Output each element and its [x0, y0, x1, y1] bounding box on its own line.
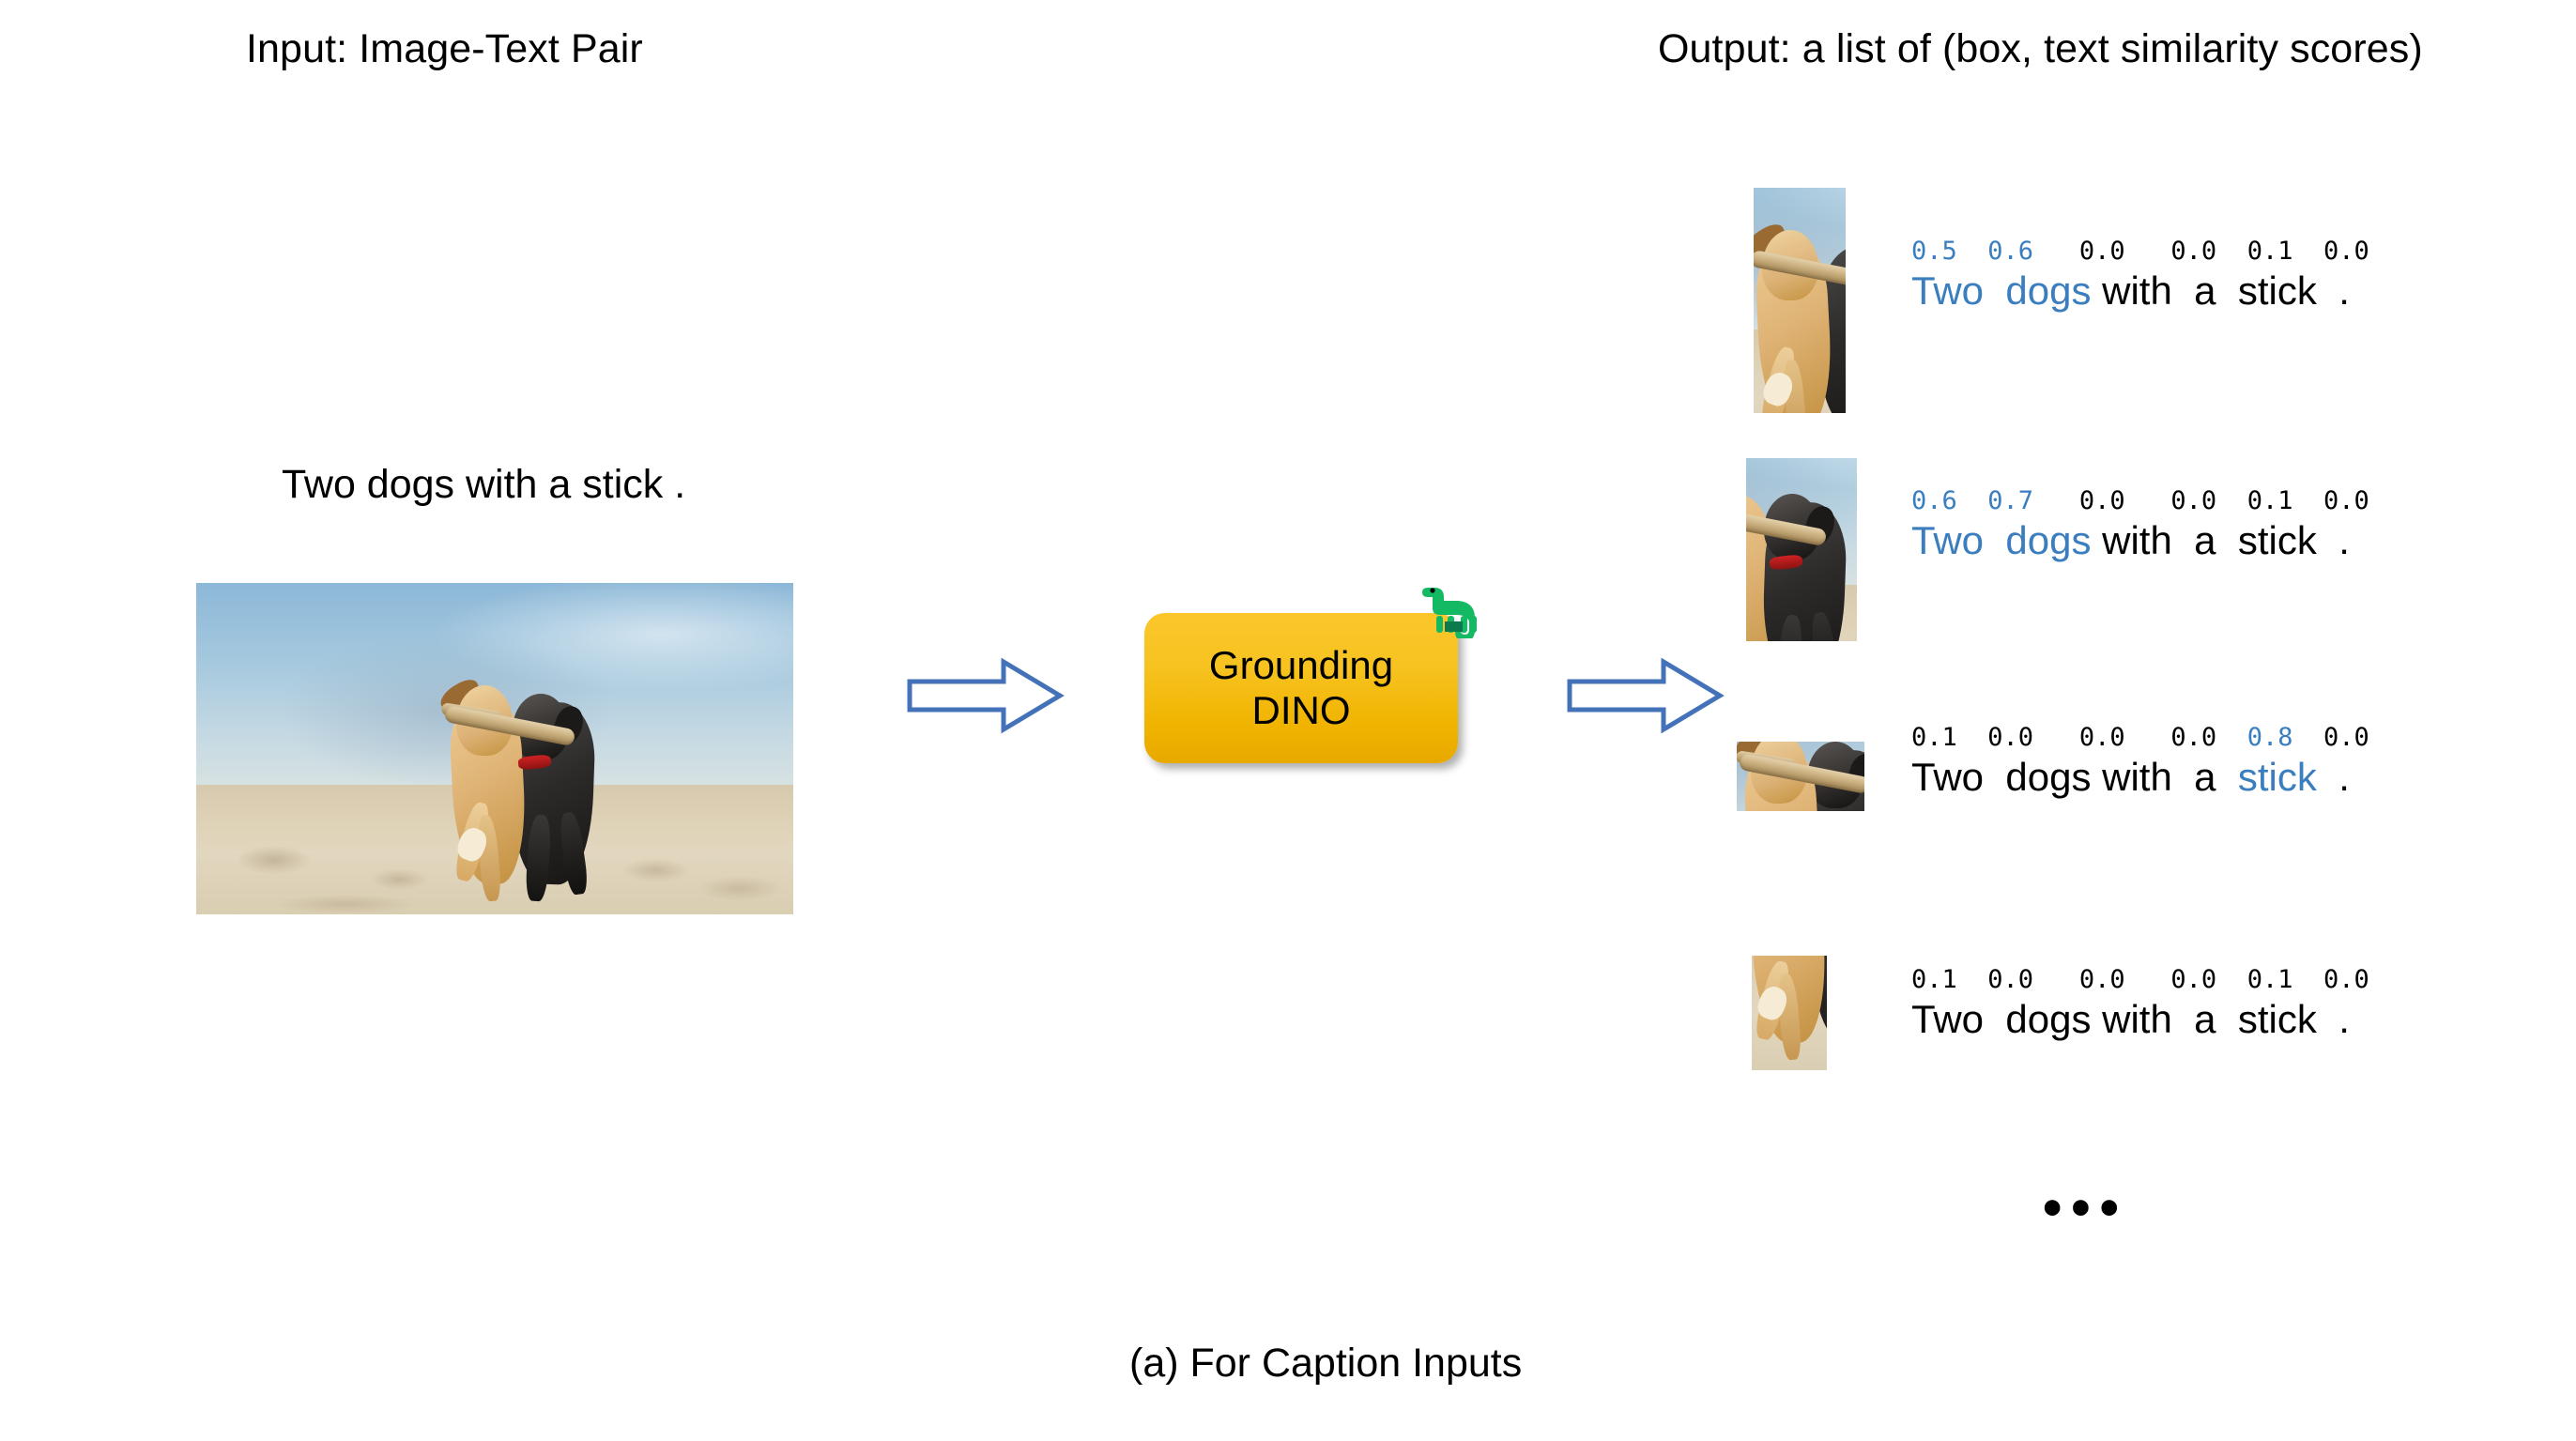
- dinosaur-icon: [1416, 580, 1483, 638]
- model-name-line-2: DINO: [1252, 688, 1351, 733]
- detected-box-thumbnail[interactable]: [1746, 458, 1857, 641]
- thumbnail-crop: [1746, 458, 1857, 641]
- output-row: 0.5 0.6 0.0 0.0 0.1 0.0 Two dogs with a …: [1754, 188, 2467, 413]
- output-row: 0.1 0.0 0.0 0.0 0.1 0.0 Two dogs with a …: [1752, 956, 2465, 1070]
- beach-scene: [196, 583, 793, 914]
- input-header-label: Input: Image-Text Pair: [246, 26, 643, 72]
- arrow-right-icon-input: [906, 657, 1066, 734]
- thumbnail-crop: [1752, 956, 1827, 1070]
- output-row: 0.6 0.7 0.0 0.0 0.1 0.0 Two dogs with a …: [1746, 458, 2460, 641]
- more-results-ellipsis: •••: [2043, 1181, 2128, 1235]
- caption-token-line: Two dogs with a stick .: [1911, 518, 2369, 565]
- caption-token-line: Two dogs with a stick .: [1911, 755, 2369, 802]
- model-name-line-1: Grounding: [1209, 643, 1393, 688]
- detected-box-thumbnail[interactable]: [1752, 956, 1827, 1070]
- detected-box-thumbnail[interactable]: [1737, 742, 1864, 811]
- grounding-dino-model-box[interactable]: Grounding DINO: [1144, 613, 1458, 763]
- row-text-block: 0.1 0.0 0.0 0.0 0.1 0.0 Two dogs with a …: [1911, 965, 2369, 1044]
- input-caption-text: Two dogs with a stick .: [282, 462, 685, 508]
- arrow-right-icon-output: [1566, 657, 1725, 734]
- similarity-score-line: 0.5 0.6 0.0 0.0 0.1 0.0: [1911, 237, 2369, 268]
- input-image: [196, 583, 793, 914]
- caption-token-line: Two dogs with a stick .: [1911, 268, 2369, 315]
- thumbnail-crop: [1754, 188, 1846, 413]
- thumbnail-crop: [1737, 742, 1864, 811]
- similarity-score-line: 0.1 0.0 0.0 0.0 0.8 0.0: [1911, 723, 2369, 755]
- similarity-score-line: 0.1 0.0 0.0 0.0 0.1 0.0: [1911, 965, 2369, 997]
- row-text-block: 0.1 0.0 0.0 0.0 0.8 0.0 Two dogs with a …: [1911, 723, 2369, 802]
- figure-caption: (a) For Caption Inputs: [1129, 1341, 1522, 1387]
- row-text-block: 0.5 0.6 0.0 0.0 0.1 0.0 Two dogs with a …: [1911, 237, 2369, 315]
- output-row: 0.1 0.0 0.0 0.0 0.8 0.0 Two dogs with a …: [1737, 742, 2450, 811]
- similarity-score-line: 0.6 0.7 0.0 0.0 0.1 0.0: [1911, 486, 2369, 518]
- caption-token-line: Two dogs with a stick .: [1911, 997, 2369, 1044]
- row-text-block: 0.6 0.7 0.0 0.0 0.1 0.0 Two dogs with a …: [1911, 486, 2369, 565]
- output-header-label: Output: a list of (box, text similarity …: [1658, 26, 2423, 72]
- detected-box-thumbnail[interactable]: [1754, 188, 1846, 413]
